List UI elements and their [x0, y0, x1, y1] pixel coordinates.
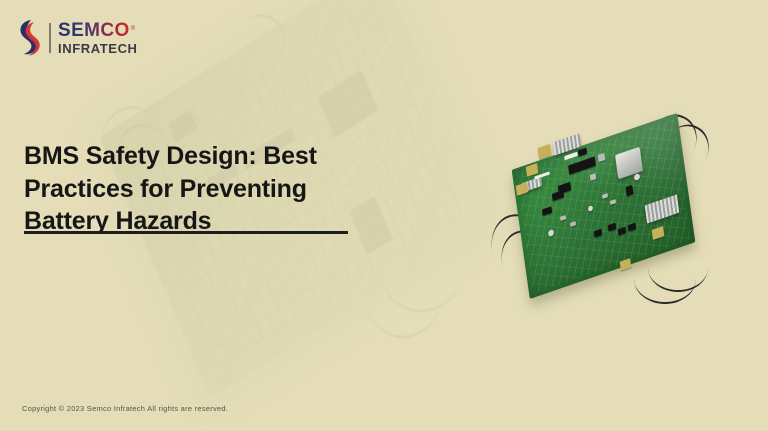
watermark-wire [224, 6, 294, 80]
logo-divider [49, 23, 51, 53]
copyright-text: Copyright © 2023 Semco Infratech All rig… [22, 404, 228, 413]
title-underline [24, 231, 348, 234]
watermark-wire [362, 234, 444, 338]
pcb-gold-pad [620, 258, 632, 271]
logo-sub-brand: INFRATECH [58, 42, 138, 55]
watermark-chip [168, 110, 198, 142]
headline-block: BMS Safety Design: Best Practices for Pr… [24, 140, 364, 238]
logo-wordmark: SEMCO® INFRATECH [58, 21, 138, 55]
bms-circuit-board-photo [498, 118, 728, 303]
banner: SEMCO® INFRATECH BMS Safety Design: Best… [0, 0, 768, 431]
page-title: BMS Safety Design: Best Practices for Pr… [24, 140, 364, 238]
registered-trademark-icon: ® [131, 26, 135, 32]
logo-brand-row: SEMCO® [58, 21, 138, 40]
watermark-wire [378, 216, 464, 312]
semco-s-monogram-icon [16, 18, 42, 58]
logo-brand: SEMCO [58, 21, 130, 40]
watermark-chip [317, 70, 379, 139]
semco-infratech-logo[interactable]: SEMCO® INFRATECH [16, 18, 138, 58]
